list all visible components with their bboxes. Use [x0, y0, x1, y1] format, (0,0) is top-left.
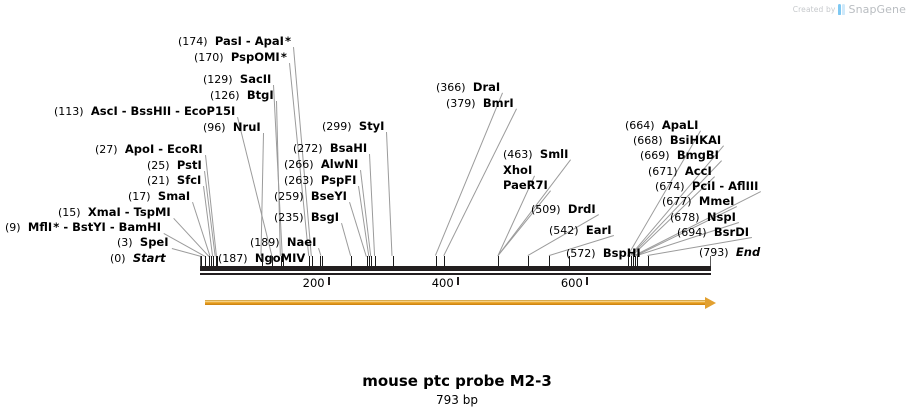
enzyme-name: BssHII	[131, 104, 172, 118]
enzyme-name: PspFI	[321, 173, 356, 187]
enzyme-name: Start	[133, 251, 166, 265]
site-position: (21)	[147, 174, 170, 187]
site-position: (259)	[274, 190, 304, 203]
enzyme-name: AflIII	[728, 179, 758, 193]
site-position: (669)	[640, 149, 670, 162]
enzyme-name: AccI	[685, 164, 712, 178]
enzyme-name: PstI	[177, 158, 202, 172]
sequence-length-label: 793 bp	[0, 393, 914, 407]
enzyme-name: PaeR7I	[503, 178, 548, 192]
name-separator: -	[715, 179, 728, 193]
enzyme-label-l-263[interactable]: (263) PspFI	[284, 174, 356, 187]
enzyme-name: XmaI	[88, 205, 121, 219]
enzyme-name: BmgBI	[677, 148, 719, 162]
enzyme-name: BsrDI	[714, 225, 749, 239]
enzyme-name: EcoP15I	[184, 104, 235, 118]
site-position: (113)	[54, 105, 84, 118]
enzyme-name: BsiHKAI	[670, 133, 721, 147]
site-position: (366)	[436, 81, 466, 94]
sequence-bar-shadow	[200, 273, 712, 275]
enzyme-name: NruI	[233, 120, 261, 134]
enzyme-name: TspMI	[134, 205, 171, 219]
enzyme-name: BseYI	[311, 189, 347, 203]
enzyme-label-l-674[interactable]: (674) PciI - AflIII	[655, 180, 758, 193]
site-position: (17)	[128, 190, 151, 203]
enzyme-name: BmrI	[483, 96, 514, 110]
enzyme-label-l-21[interactable]: (21) SfcI	[147, 174, 201, 187]
enzyme-label-l-463b[interactable]: XhoI	[503, 164, 532, 176]
site-position: (187)	[218, 252, 248, 265]
enzyme-name: ApaI	[255, 34, 284, 48]
enzyme-name: DrdI	[568, 202, 596, 216]
enzyme-label-l-664[interactable]: (664) ApaLI	[625, 119, 698, 132]
enzyme-label-l-266[interactable]: (266) AlwNI	[284, 158, 358, 171]
site-position: (694)	[677, 226, 707, 239]
name-separator: -	[118, 104, 131, 118]
enzyme-name: PspOMI	[231, 50, 280, 64]
site-position: (671)	[648, 165, 678, 178]
sequence-bar	[200, 266, 712, 271]
enzyme-label-l-189[interactable]: (189) NaeI	[250, 236, 316, 249]
snapgene-watermark: Created by SnapGene	[793, 3, 906, 16]
leader-line	[369, 154, 375, 256]
enzyme-label-l-170[interactable]: (170) PspOMI *	[194, 51, 287, 64]
site-position: (678)	[670, 211, 700, 224]
site-position: (15)	[58, 206, 81, 219]
enzyme-name: BstYI	[72, 220, 106, 234]
enzyme-name: SmlI	[540, 147, 569, 161]
enzyme-name: NspI	[707, 210, 736, 224]
enzyme-name: MmeI	[699, 194, 735, 208]
enzyme-label-l-669[interactable]: (669) BmgBI	[640, 149, 719, 162]
name-separator: -	[154, 142, 167, 156]
ruler-label-400: 400	[422, 276, 454, 290]
page-title: mouse ptc probe M2-3	[0, 372, 914, 390]
name-separator: -	[121, 205, 134, 219]
orf-arrow-head	[705, 297, 716, 309]
enzyme-label-l-668[interactable]: (668) BsiHKAI	[633, 134, 721, 147]
site-position: (674)	[655, 180, 685, 193]
site-position: (266)	[284, 158, 314, 171]
enzyme-label-l-235[interactable]: (235) BsgI	[274, 211, 339, 224]
site-position: (189)	[250, 236, 280, 249]
ruler-tick-600	[586, 277, 589, 285]
site-position: (668)	[633, 134, 663, 147]
star-activity-icon: *	[280, 50, 287, 64]
site-position: (0)	[110, 252, 126, 265]
enzyme-name: NaeI	[287, 235, 316, 249]
site-position: (170)	[194, 51, 224, 64]
enzyme-name: EarI	[586, 223, 612, 237]
enzyme-label-l-299[interactable]: (299) StyI	[322, 120, 384, 133]
ruler-tick-200	[328, 277, 331, 285]
enzyme-name: SfcI	[177, 173, 201, 187]
enzyme-name: BsaHI	[330, 141, 367, 155]
enzyme-label-l-129[interactable]: (129) SacII	[203, 73, 271, 86]
enzyme-name: BamHI	[119, 220, 161, 234]
site-position: (27)	[95, 143, 118, 156]
enzyme-name: PasI	[215, 34, 242, 48]
enzyme-name: ApoI	[125, 142, 154, 156]
site-position: (174)	[178, 35, 208, 48]
enzyme-label-l-366[interactable]: (366) DraI	[436, 81, 500, 94]
name-separator: -	[171, 104, 184, 118]
enzyme-label-l-27[interactable]: (27) ApoI - EcoRI	[95, 143, 203, 156]
name-separator: -	[59, 220, 72, 234]
enzyme-label-l-272[interactable]: (272) BsaHI	[293, 142, 367, 155]
enzyme-label-l-677[interactable]: (677) MmeI	[662, 195, 734, 208]
enzyme-name: EcoRI	[167, 142, 203, 156]
snapgene-map-canvas: Created by SnapGene (174) PasI - ApaI *(…	[0, 0, 914, 415]
site-position: (272)	[293, 142, 323, 155]
site-position: (379)	[446, 97, 476, 110]
enzyme-label-l-96[interactable]: (96) NruI	[203, 121, 261, 134]
snapgene-leaf-icon	[838, 4, 845, 16]
enzyme-name: ApaLI	[662, 118, 699, 132]
leader-line	[386, 132, 393, 256]
site-position: (25)	[147, 159, 170, 172]
leader-line	[341, 223, 351, 256]
enzyme-label-l-694[interactable]: (694) BsrDI	[677, 226, 749, 239]
ruler-label-600: 600	[551, 276, 583, 290]
sequence-bar-right-cap	[710, 256, 712, 266]
enzyme-label-l-509[interactable]: (509) DrdI	[531, 203, 596, 216]
star-activity-icon: *	[284, 34, 291, 48]
enzyme-label-l-542[interactable]: (542) EarI	[549, 224, 611, 237]
site-position: (463)	[503, 148, 533, 161]
enzyme-label-l-126[interactable]: (126) BtgI	[210, 89, 274, 102]
ruler-label-200: 200	[293, 276, 325, 290]
site-position: (664)	[625, 119, 655, 132]
enzyme-name: XhoI	[503, 163, 532, 177]
site-position: (263)	[284, 174, 314, 187]
enzyme-label-l-793[interactable]: (793) End	[699, 246, 760, 259]
site-position: (126)	[210, 89, 240, 102]
enzyme-name: MflI	[28, 220, 52, 234]
ruler-tick-400	[457, 277, 460, 285]
site-position: (509)	[531, 203, 561, 216]
site-position: (3)	[117, 236, 133, 249]
enzyme-label-l-113[interactable]: (113) AscI - BssHII - EcoP15I	[54, 105, 235, 118]
enzyme-name: BsgI	[311, 210, 339, 224]
enzyme-label-l-17[interactable]: (17) SmaI	[128, 190, 190, 203]
site-position: (677)	[662, 195, 692, 208]
snapgene-brand-label: SnapGene	[848, 3, 906, 16]
site-position: (96)	[203, 121, 226, 134]
enzyme-name: SacII	[240, 72, 271, 86]
enzyme-name: SmaI	[158, 189, 190, 203]
watermark-created-by-label: Created by	[793, 5, 836, 14]
enzyme-label-l-678[interactable]: (678) NspI	[670, 211, 736, 224]
enzyme-label-l-463[interactable]: (463) SmlI	[503, 148, 568, 161]
enzyme-label-l-3[interactable]: (3) SpeI	[117, 236, 169, 249]
orf-arrow-shaft	[205, 300, 707, 305]
enzyme-name: StyI	[359, 119, 385, 133]
site-position: (299)	[322, 120, 352, 133]
name-separator: -	[242, 34, 255, 48]
site-position: (129)	[203, 73, 233, 86]
leader-line	[276, 101, 281, 256]
enzyme-label-l-0[interactable]: (0) Start	[110, 252, 166, 265]
sequence-bar-left-cap	[200, 256, 202, 266]
enzyme-name: AscI	[91, 104, 118, 118]
enzyme-label-l-259[interactable]: (259) BseYI	[274, 190, 347, 203]
enzyme-name: DraI	[473, 80, 500, 94]
site-position: (572)	[566, 247, 596, 260]
site-position: (235)	[274, 211, 304, 224]
enzyme-name: PciI	[692, 179, 715, 193]
site-position: (9)	[5, 221, 21, 234]
enzyme-label-l-174[interactable]: (174) PasI - ApaI *	[178, 35, 291, 48]
enzyme-name: AlwNI	[321, 157, 358, 171]
enzyme-name: BtgI	[247, 88, 274, 102]
map-caption: mouse ptc probe M2-3 793 bp	[0, 372, 914, 407]
enzyme-label-l-25[interactable]: (25) PstI	[147, 159, 202, 172]
site-position: (542)	[549, 224, 579, 237]
enzyme-name: End	[736, 245, 760, 259]
enzyme-label-l-379[interactable]: (379) BmrI	[446, 97, 514, 110]
site-position: (793)	[699, 246, 729, 259]
enzyme-label-l-9[interactable]: (9) MflI * - BstYI - BamHI	[5, 221, 161, 234]
name-separator: -	[106, 220, 119, 234]
enzyme-label-l-463c[interactable]: PaeR7I	[503, 179, 548, 191]
enzyme-name: SpeI	[140, 235, 169, 249]
enzyme-label-l-15[interactable]: (15) XmaI - TspMI	[58, 206, 171, 219]
enzyme-label-l-572[interactable]: (572) BspHI	[566, 247, 641, 260]
leader-line	[435, 93, 503, 256]
enzyme-label-l-671[interactable]: (671) AccI	[648, 165, 712, 178]
